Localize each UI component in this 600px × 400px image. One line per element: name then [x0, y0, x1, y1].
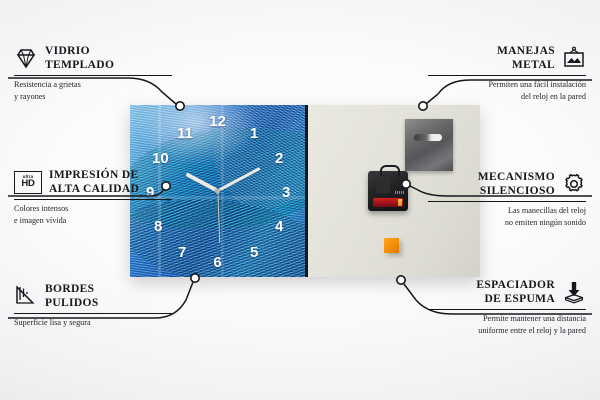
feature-mecanismo-silencioso: MECANISMO SILENCIOSO Las manecillas del …	[428, 170, 586, 229]
feature-title: MECANISMO SILENCIOSO	[478, 170, 555, 198]
clock-number-5: 5	[250, 245, 258, 260]
feature-title: ESPACIADOR DE ESPUMA	[476, 278, 555, 306]
mechanism-loop	[380, 165, 400, 176]
clock-center-pin	[215, 189, 220, 194]
feature-divider	[14, 75, 172, 76]
feature-bordes-pulidos: BORDES PULIDOS Superficie lisa y segura	[14, 282, 172, 329]
feature-divider	[14, 313, 172, 314]
feature-divider	[14, 199, 172, 200]
wall-hanger-frame-icon	[562, 46, 586, 70]
clock-number-4: 4	[275, 219, 283, 234]
feature-title: MANEJAS METAL	[497, 44, 555, 72]
feature-impresion-alta-calidad: ultra HD IMPRESIÓN DE ALTA CALIDAD Color…	[14, 168, 172, 227]
clock-number-3: 3	[282, 185, 290, 200]
feature-description: Superficie lisa y segura	[14, 317, 172, 329]
ultra-hd-icon: ultra HD	[14, 171, 42, 194]
feature-divider	[428, 75, 586, 76]
clock-number-6: 6	[213, 255, 221, 270]
mechanism-body	[376, 179, 390, 193]
clock-number-1: 1	[250, 126, 258, 141]
clock-number-10: 10	[152, 151, 169, 166]
polished-edges-icon	[14, 284, 38, 308]
clock-number-2: 2	[275, 151, 283, 166]
feature-title: IMPRESIÓN DE ALTA CALIDAD	[49, 168, 139, 196]
feature-description: Colores intensos e imagen vívida	[14, 203, 172, 226]
mechanism-label	[395, 191, 405, 194]
foam-spacer	[384, 238, 399, 253]
hanger-slot	[414, 134, 442, 141]
battery	[373, 198, 403, 207]
clock-number-7: 7	[178, 245, 186, 260]
feature-description: Resistencia a grietas y rayones	[14, 79, 172, 102]
feature-description: Las manecillas del reloj no emiten ningú…	[428, 205, 586, 228]
feature-description: Permite mantener una distancia uniforme …	[428, 313, 586, 336]
feature-espaciador-espuma: ESPACIADOR DE ESPUMA Permite mantener un…	[428, 278, 586, 337]
down-arrow-pad-icon	[562, 280, 586, 304]
feature-title: VIDRIO TEMPLADO	[45, 44, 114, 72]
feature-divider	[428, 309, 586, 310]
feature-divider	[428, 201, 586, 202]
feature-description: Permiten una fácil instalación del reloj…	[428, 79, 586, 102]
feature-title: BORDES PULIDOS	[45, 282, 99, 310]
clock-number-12: 12	[209, 114, 226, 129]
feature-manejas-metal: MANEJAS METAL Permiten una fácil instala…	[428, 44, 586, 103]
feature-vidrio-templado: VIDRIO TEMPLADO Resistencia a grietas y …	[14, 44, 172, 103]
infographic-stage: 12 1 2 3 4 5 6 7 8 9 10 11	[0, 0, 600, 400]
hanger-plate	[405, 119, 453, 171]
gear-icon	[562, 172, 586, 196]
diamond-icon	[14, 46, 38, 70]
clock-mechanism	[368, 171, 408, 211]
clock-number-11: 11	[177, 126, 193, 141]
